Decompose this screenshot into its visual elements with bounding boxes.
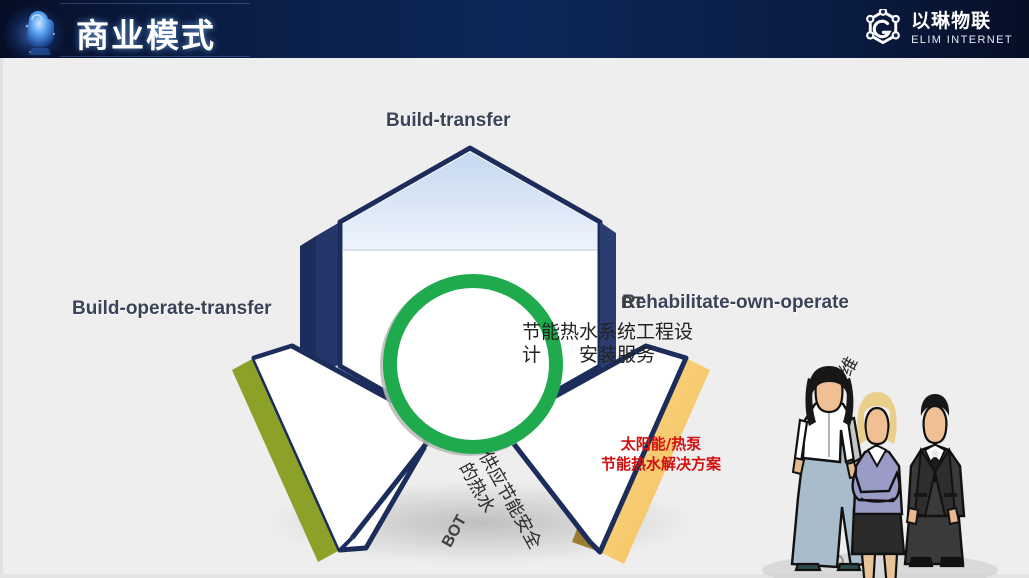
slide-header: 商业模式 以琳物联 ELIM INTERNET [0,0,1029,58]
logo-text-cn: 以琳物联 [911,12,1013,31]
page-title: 商业模式 [76,9,216,57]
hexagon-code-bt: BT [621,293,644,313]
left-edge [0,58,3,578]
figure-man-dark-suit [905,394,964,566]
elim-logo-mark-icon [863,9,903,49]
center-line-2: 节能热水解决方案 [586,454,736,474]
three-business-people-illustration [762,358,1002,578]
logo-text-en: ELIM INTERNET [911,35,1013,46]
hexagon-body-bt-line1: 节能热水系统工程设 [522,321,752,344]
hexagon-body-bt-line2: 计 安装服务 [522,344,752,367]
slide-body: Build-transfer Build-operate-transfer Re… [0,58,1029,578]
center-solution-text: 太阳能/热泵 节能热水解决方案 [586,434,736,475]
fist-icon [18,4,62,56]
figure-woman-lavender-jacket [852,392,904,578]
brand-logo: 以琳物联 ELIM INTERNET [863,7,1013,51]
hexagon-body-bt: 节能热水系统工程设 计 安装服务 [522,321,752,367]
business-model-diagram: BT 节能热水系统工程设 计 安装服务 BOT 供应节能安全 的热水 ROO 产… [180,118,760,568]
center-line-1: 太阳能/热泵 [586,434,736,454]
slide: 商业模式 以琳物联 ELIM INTERNET Build-transfer B… [0,0,1029,578]
